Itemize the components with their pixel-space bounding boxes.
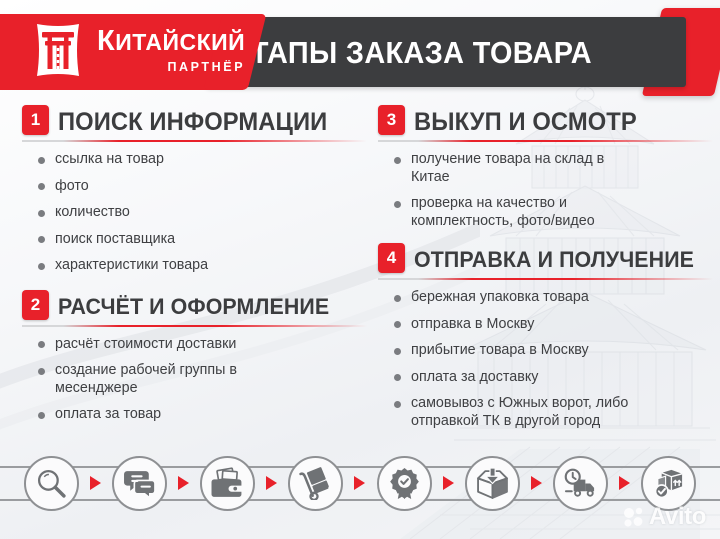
avito-watermark-text: Avito bbox=[649, 503, 706, 531]
list-item: отправка в Москву bbox=[394, 316, 713, 334]
section-2-underline bbox=[22, 325, 367, 327]
section-3-list: получение товара на склад в Китае провер… bbox=[378, 151, 713, 230]
infographic-page: ЭТАПЫ ЗАКАЗА ТОВАРА bbox=[0, 0, 720, 539]
section-3-header: 3 ВЫКУП И ОСМОТР bbox=[378, 106, 713, 139]
avito-watermark: Avito bbox=[623, 503, 706, 531]
section-4: 4 ОТПРАВКА И ПОЛУЧЕНИЕ бережная упаковка… bbox=[378, 244, 713, 430]
brand-name-line1: КИТАЙСКИЙ bbox=[97, 27, 245, 56]
red-arrow-icon bbox=[90, 476, 101, 490]
list-item: характеристики товара bbox=[38, 257, 367, 275]
section-1-list: ссылка на товар фото количество поиск по… bbox=[22, 151, 367, 275]
page-header: ЭТАПЫ ЗАКАЗА ТОВАРА bbox=[0, 14, 720, 90]
list-item: оплата за товар bbox=[38, 406, 367, 424]
section-4-header: 4 ОТПРАВКА И ПОЛУЧЕНИЕ bbox=[378, 244, 713, 277]
section-4-title: ОТПРАВКА И ПОЛУЧЕНИЕ bbox=[414, 246, 694, 274]
section-3-number-badge: 3 bbox=[378, 105, 405, 135]
section-2-title: РАСЧЁТ И ОФОРМЛЕНИЕ bbox=[58, 293, 329, 321]
section-1-header: 1 ПОИСК ИНФОРМАЦИИ bbox=[22, 106, 367, 139]
list-item: создание рабочей группы в месенджере bbox=[38, 362, 253, 397]
red-arrow-icon bbox=[619, 476, 630, 490]
brand-name-cap: К bbox=[97, 25, 115, 57]
list-item: получение товара на склад в Китае bbox=[394, 151, 639, 186]
section-2-list: расчёт стоимости доставки создание рабоч… bbox=[22, 336, 367, 424]
red-arrow-icon bbox=[354, 476, 365, 490]
box-packing-icon[interactable] bbox=[465, 456, 520, 511]
section-4-number-badge: 4 bbox=[378, 243, 405, 273]
section-1-title: ПОИСК ИНФОРМАЦИИ bbox=[58, 108, 327, 136]
section-2-header: 2 РАСЧЁТ И ОФОРМЛЕНИЕ bbox=[22, 291, 367, 324]
process-icons-row bbox=[0, 452, 720, 514]
section-3-underline bbox=[378, 140, 713, 142]
list-item: проверка на качество и комплектность, фо… bbox=[394, 195, 644, 230]
list-item: количество bbox=[38, 204, 367, 222]
red-arrow-icon bbox=[443, 476, 454, 490]
brand-name-rest: ИТАЙСКИЙ bbox=[115, 29, 245, 55]
list-item: бережная упаковка товара bbox=[394, 289, 713, 307]
section-3-title: ВЫКУП И ОСМОТР bbox=[414, 108, 637, 136]
brand-name-line2: ПАРТНЁР bbox=[97, 61, 245, 74]
section-1-number-badge: 1 bbox=[22, 105, 49, 135]
chinese-gate-icon bbox=[30, 20, 86, 80]
section-2-number-badge: 2 bbox=[22, 290, 49, 320]
magnifier-icon[interactable] bbox=[24, 456, 79, 511]
hand-truck-icon[interactable] bbox=[288, 456, 343, 511]
process-strip bbox=[0, 452, 720, 514]
list-item: самовывоз с Южных ворот, либо отправкой … bbox=[394, 395, 679, 430]
list-item: расчёт стоимости доставки bbox=[38, 336, 367, 354]
list-item: поиск поставщика bbox=[38, 231, 367, 249]
quality-badge-icon[interactable] bbox=[377, 456, 432, 511]
red-arrow-icon bbox=[531, 476, 542, 490]
list-item: ссылка на товар bbox=[38, 151, 367, 169]
right-column: 3 ВЫКУП И ОСМОТР получение товара на скл… bbox=[378, 106, 713, 439]
section-1-underline bbox=[22, 140, 367, 142]
brand-name: КИТАЙСКИЙ ПАРТНЁР bbox=[97, 27, 245, 74]
list-item: оплата за доставку bbox=[394, 369, 713, 387]
section-4-underline bbox=[378, 278, 713, 280]
page-title: ЭТАПЫ ЗАКАЗА ТОВАРА bbox=[230, 28, 649, 78]
brand-logo[interactable]: КИТАЙСКИЙ ПАРТНЁР bbox=[30, 20, 245, 80]
red-arrow-icon bbox=[266, 476, 277, 490]
left-column: 1 ПОИСК ИНФОРМАЦИИ ссылка на товар фото … bbox=[22, 106, 367, 433]
section-4-list: бережная упаковка товара отправка в Моск… bbox=[378, 289, 713, 430]
chat-bubbles-icon[interactable] bbox=[112, 456, 167, 511]
list-item: прибытие товара в Москву bbox=[394, 342, 713, 360]
section-1: 1 ПОИСК ИНФОРМАЦИИ ссылка на товар фото … bbox=[22, 106, 367, 275]
red-arrow-icon bbox=[178, 476, 189, 490]
section-3: 3 ВЫКУП И ОСМОТР получение товара на скл… bbox=[378, 106, 713, 230]
avito-logo-icon bbox=[623, 506, 645, 528]
delivery-truck-clock-icon[interactable] bbox=[553, 456, 608, 511]
section-2: 2 РАСЧЁТ И ОФОРМЛЕНИЕ расчёт стоимости д… bbox=[22, 291, 367, 424]
list-item: фото bbox=[38, 178, 367, 196]
wallet-money-icon[interactable] bbox=[200, 456, 255, 511]
